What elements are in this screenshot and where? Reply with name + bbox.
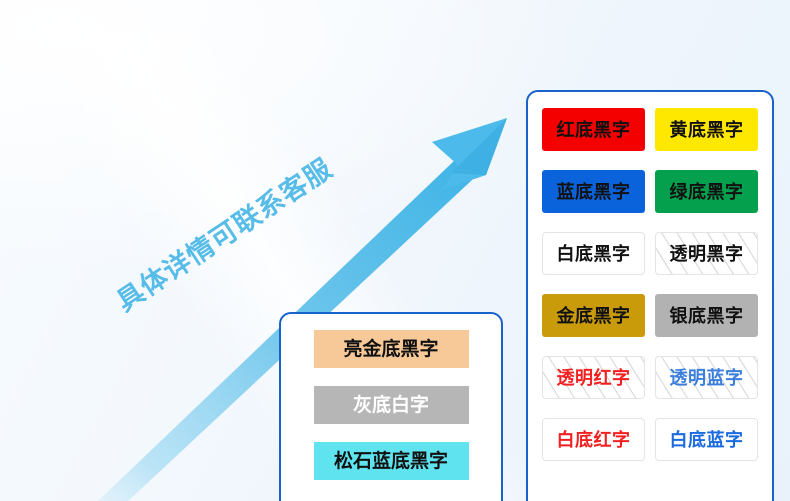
swatch-grid: 红底黑字 黄底黑字 蓝底黑字 绿底黑字 白底黑字 透明黑字 金底黑字 银底黑字 — [542, 108, 758, 461]
swatch-chip[interactable]: 绿底黑字 — [655, 170, 758, 213]
slogan-text: 具体详情可联系客服 — [107, 147, 339, 319]
special-swatch-list: 亮金底黑字 灰底白字 松石蓝底黑字 — [295, 330, 487, 480]
swatch-label: 白底蓝字 — [670, 431, 744, 449]
swatch-label: 红底黑字 — [557, 121, 631, 139]
swatch-label: 金底黑字 — [557, 307, 631, 325]
swatch-chip[interactable]: 灰底白字 — [314, 386, 469, 424]
special-swatch-panel: 亮金底黑字 灰底白字 松石蓝底黑字 — [279, 312, 503, 501]
swatch-chip[interactable]: 白底红字 — [542, 418, 645, 461]
color-swatch-panel: 红底黑字 黄底黑字 蓝底黑字 绿底黑字 白底黑字 透明黑字 金底黑字 银底黑字 — [526, 90, 774, 501]
swatch-chip[interactable]: 红底黑字 — [542, 108, 645, 151]
swatch-label: 透明红字 — [557, 369, 631, 387]
swatch-chip[interactable]: 金底黑字 — [542, 294, 645, 337]
swatch-chip[interactable]: 松石蓝底黑字 — [314, 442, 469, 480]
swatch-label: 白底黑字 — [557, 245, 631, 263]
swatch-label: 透明黑字 — [670, 245, 744, 263]
swatch-label: 松石蓝底黑字 — [334, 452, 448, 471]
swatch-chip[interactable]: 亮金底黑字 — [314, 330, 469, 368]
swatch-chip[interactable]: 黄底黑字 — [655, 108, 758, 151]
swatch-label: 白底红字 — [557, 431, 631, 449]
swatch-label: 绿底黑字 — [670, 183, 744, 201]
swatch-chip[interactable]: 透明蓝字 — [655, 356, 758, 399]
swatch-label: 透明蓝字 — [670, 369, 744, 387]
swatch-label: 灰底白字 — [353, 396, 429, 415]
swatch-chip[interactable]: 银底黑字 — [655, 294, 758, 337]
swatch-chip[interactable]: 蓝底黑字 — [542, 170, 645, 213]
swatch-label: 黄底黑字 — [670, 121, 744, 139]
swatch-chip[interactable]: 透明红字 — [542, 356, 645, 399]
swatch-chip[interactable]: 透明黑字 — [655, 232, 758, 275]
swatch-label: 蓝底黑字 — [557, 183, 631, 201]
swatch-poster: 具体详情可联系客服 红底黑字 黄底黑字 蓝底黑字 绿底黑字 白底黑字 透明黑字 — [0, 0, 790, 501]
swatch-chip[interactable]: 白底蓝字 — [655, 418, 758, 461]
swatch-label: 银底黑字 — [670, 307, 744, 325]
swatch-label: 亮金底黑字 — [343, 340, 438, 359]
swatch-chip[interactable]: 白底黑字 — [542, 232, 645, 275]
